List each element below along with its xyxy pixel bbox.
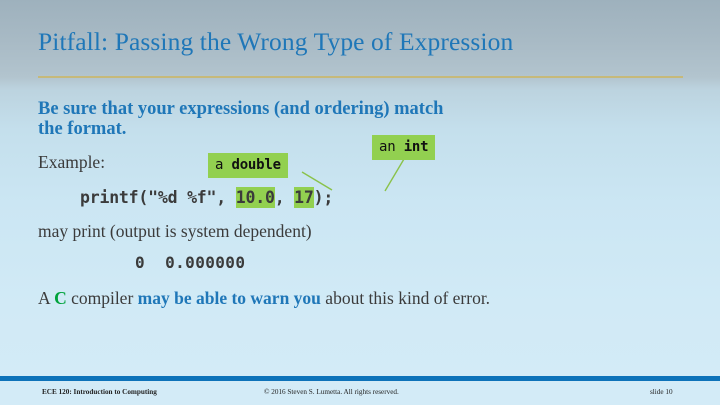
callout-a-double: a double	[208, 153, 288, 178]
slide-canvas: Pitfall: Passing the Wrong Type of Expre…	[0, 0, 720, 405]
closing-text: A C compiler may be able to warn you abo…	[38, 288, 508, 309]
title-divider	[38, 76, 683, 78]
callout-int-type: int	[404, 139, 429, 155]
leader-line-int	[385, 159, 404, 191]
callout-double-type: double	[231, 157, 280, 173]
closing-part3: about this kind of error.	[321, 288, 490, 308]
lead-in-text: Be sure that your expressions (and order…	[38, 99, 458, 139]
code-suffix: );	[314, 188, 333, 207]
code-arg-double: 10.0	[236, 187, 275, 208]
code-line-printf: printf("%d %f", 10.0, 17);	[80, 188, 333, 207]
page-title: Pitfall: Passing the Wrong Type of Expre…	[38, 27, 688, 57]
code-prefix: printf("%d %f",	[80, 188, 236, 207]
code-arg-int: 17	[294, 187, 313, 208]
example-label: Example:	[38, 152, 105, 173]
closing-emphasis: may be able to warn you	[138, 288, 321, 308]
closing-part2: compiler	[67, 288, 138, 308]
code-separator: ,	[275, 188, 294, 207]
callout-an-int: an int	[372, 135, 435, 160]
callout-double-prefix: a	[215, 157, 231, 173]
callout-int-prefix: an	[379, 139, 404, 155]
may-print-text: may print (output is system dependent)	[38, 221, 312, 242]
footer-course-name: ECE 120: Introduction to Computing	[42, 388, 157, 397]
code-output-line: 0 0.000000	[135, 253, 245, 272]
closing-part1: A	[38, 288, 54, 308]
language-c: C	[54, 288, 67, 308]
footer-copyright: © 2016 Steven S. Lumetta. All rights res…	[264, 388, 399, 397]
footer-bar	[0, 376, 720, 381]
footer-slide-number: slide 10	[650, 388, 673, 397]
